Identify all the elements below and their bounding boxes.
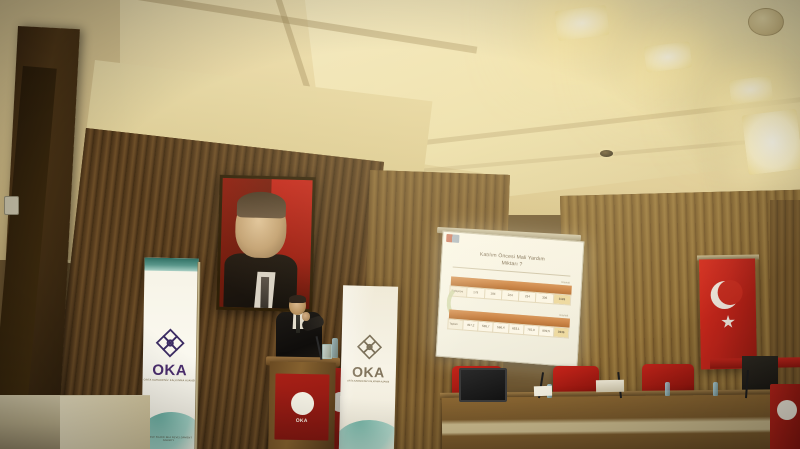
projection-screen: Katılım Öncesi Mali Yardım Miktarı ? Kay… [436,231,585,368]
desk-nameplate [596,380,624,392]
slide-table-1-wrap: Kaynak Türkiye'ye 178 184 224 234 306 [449,272,572,305]
conference-hall-photo: Katılım Öncesi Mali Yardım Miktarı ? Kay… [0,0,800,449]
oka-banner-mid: OKA ORTA KARADENİZ KALKINMA AJANSI [339,285,398,449]
oka-brand-text: OKA [143,362,197,380]
table-cell: 497,2 [463,320,479,331]
table-2-row-label: Toplam [448,319,464,330]
speaker-hair [289,295,306,303]
turkish-flag [699,259,757,370]
star-icon [721,315,735,329]
oka-subtitle: ORTA KARADENİZ KALKINMA AJANSI [142,379,196,384]
ceiling-light [554,5,609,41]
panel-desk [442,394,800,449]
table-cell: 781,9 [523,325,539,336]
oka-emblem [291,392,314,415]
crescent-cutout [717,280,742,305]
table-cell: 538,7 [478,321,494,332]
ceiling-light [644,41,693,72]
wall-sconce [4,196,19,215]
water-bottle [665,382,670,396]
table-total-cell: 1126 [553,294,571,305]
speaker-hand [302,312,310,321]
portrait-hair [237,191,286,218]
water-bottle [713,382,718,396]
table-cell: 653,1 [508,323,524,334]
slide-table-2-wrap: Kaynak Toplam 497,2 538,7 566,4 653,1 78… [447,305,570,338]
ceiling-speaker [748,8,784,36]
table-cell: 184 [484,289,502,300]
slide-title: Katılım Öncesi Mali Yardım Miktarı ? [447,249,577,273]
portrait-tie [261,277,269,308]
table-total-cell: 3936 [553,327,569,338]
podium-front-panel: OKA [274,374,329,441]
presentation-slide: Katılım Öncesi Mali Yardım Miktarı ? Kay… [437,232,584,367]
podium: OKA [268,361,336,449]
table-cell: 306 [536,293,554,304]
ceiling-light-panel [742,109,800,175]
oka-rosette-logo [155,328,186,359]
banner-top-band [142,258,198,272]
table-cell: 224 [501,290,519,301]
desk-papers [534,386,552,397]
water-bottle [332,338,338,358]
ataturk-portrait [216,175,316,312]
ceiling-light [729,76,774,105]
table-cell: 566,4 [493,322,509,333]
speaker-tie [296,315,300,333]
oka-emblem [777,400,797,420]
table-cell: 899,5 [538,326,554,337]
downlight-icon [600,150,613,157]
banner-sheen [339,285,398,449]
water-glass [322,344,332,359]
oka-pedestal [770,384,800,449]
table-cell: 234 [519,291,537,302]
desk-monitor [459,368,507,402]
podium-side-desk-face [60,396,150,449]
presentation-logo [446,234,459,243]
podium-brand-text: OKA [275,418,329,425]
